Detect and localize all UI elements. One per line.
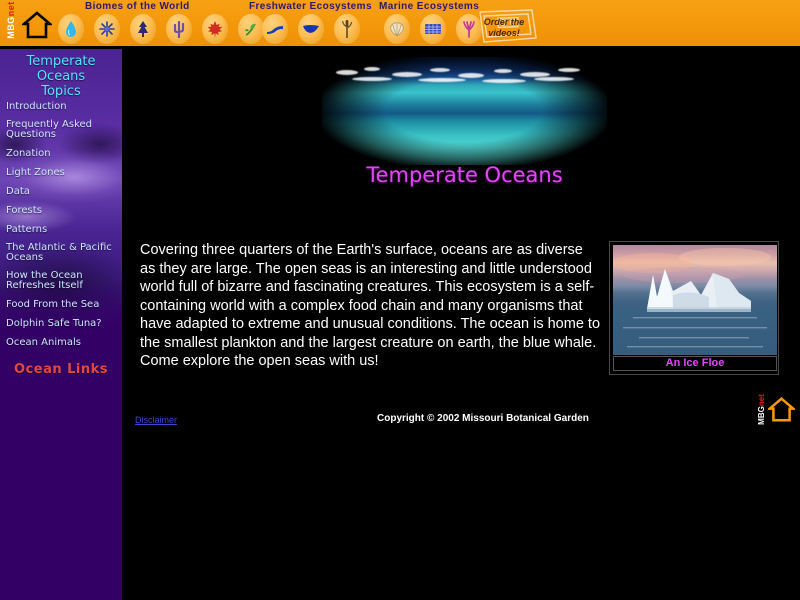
nav-icon-river[interactable] — [262, 14, 288, 44]
nav-icon-cactus[interactable] — [166, 14, 192, 44]
nav-icon-coral-reef[interactable] — [420, 14, 446, 44]
mbgnet-wordmark-primary: MBG — [6, 16, 16, 39]
sidebar-item-zonation[interactable]: Zonation — [0, 148, 122, 159]
copyright-text: Copyright © 2002 Missouri Botanical Gard… — [377, 413, 589, 424]
sidebar-item-forests[interactable]: Forests — [0, 205, 122, 216]
figure-caption: An Ice Floe — [613, 356, 777, 371]
coral-reef-icon — [424, 22, 442, 36]
mbgnet-home-logo[interactable]: MBGnet — [2, 4, 54, 44]
maple-leaf-icon — [207, 21, 223, 38]
nav-icon-shell[interactable] — [384, 14, 410, 44]
sidebar-heading-line-3: Topics — [0, 84, 122, 99]
top-navigation-bar: MBGnet Biomes of the World Freshwater Ec… — [0, 0, 800, 46]
nav-group-label-biomes: Biomes of the World — [85, 1, 190, 12]
nav-icon-conifer-tree[interactable] — [130, 14, 156, 44]
home-icon[interactable] — [768, 396, 795, 428]
water-drop-icon — [65, 21, 77, 38]
order-videos-line1: Order the — [484, 17, 525, 27]
sidebar-item-atlantic-pacific-oceans[interactable]: The Atlantic & Pacific Oceans — [0, 243, 122, 263]
conifer-tree-icon — [136, 20, 150, 38]
nav-icon-snowflake[interactable] — [94, 14, 120, 44]
home-icon[interactable] — [22, 10, 52, 45]
sprout-icon — [243, 21, 259, 37]
page-title: Temperate Oceans — [322, 163, 607, 187]
nav-icon-maple-leaf[interactable] — [202, 14, 228, 44]
river-icon — [266, 23, 284, 35]
page-root: MBGnet Biomes of the World Freshwater Ec… — [0, 0, 800, 600]
main-content: Temperate Oceans Covering three quarters… — [122, 49, 800, 600]
hero-image — [322, 57, 607, 165]
nav-icon-pond[interactable] — [298, 14, 324, 44]
sidebar-item-ocean-links[interactable]: Ocean Links — [0, 362, 122, 377]
nav-group-label-freshwater: Freshwater Ecosystems — [249, 1, 372, 12]
mbgnet-footer-wordmark: MBGnet — [757, 394, 766, 425]
body-paragraph: Covering three quarters of the Earth's s… — [140, 241, 602, 371]
disclaimer-link[interactable]: Disclaimer — [135, 415, 177, 425]
pond-icon — [302, 23, 320, 35]
cactus-icon — [172, 20, 186, 38]
figure-ice-floe: An Ice Floe — [609, 241, 779, 375]
sidebar-item-frequently-asked-questions[interactable]: Frequently Asked Questions — [0, 120, 122, 140]
sidebar-item-patterns[interactable]: Patterns — [0, 224, 122, 235]
sidebar-heading: Temperate Oceans Topics — [0, 54, 122, 99]
mbgnet-footer-primary: MBG — [757, 406, 766, 425]
nav-icon-water-drop[interactable] — [58, 14, 84, 44]
mbgnet-wordmark: MBGnet — [6, 1, 16, 39]
sidebar-item-introduction[interactable]: Introduction — [0, 101, 122, 112]
sidebar-heading-line-1: Temperate — [0, 54, 122, 69]
order-videos-button[interactable]: Order the videos! — [470, 8, 542, 44]
sidebar-item-data[interactable]: Data — [0, 186, 122, 197]
cattail-icon — [341, 19, 353, 39]
sidebar-item-light-zones[interactable]: Light Zones — [0, 167, 122, 178]
sidebar-heading-line-2: Oceans — [0, 69, 122, 84]
shell-icon — [389, 22, 405, 37]
nav-icon-cattail[interactable] — [334, 14, 360, 44]
mbgnet-footer-secondary: net — [757, 394, 766, 406]
sidebar-topic-list: Introduction Frequently Asked Questions … — [0, 101, 122, 377]
sidebar: Temperate Oceans Topics Introduction Fre… — [0, 49, 122, 600]
mbgnet-wordmark-secondary: net — [6, 1, 16, 16]
mbgnet-footer-logo[interactable]: MBGnet — [752, 392, 796, 426]
sidebar-item-food-from-the-sea[interactable]: Food From the Sea — [0, 299, 122, 310]
nav-icon-sprout[interactable] — [238, 14, 264, 44]
order-videos-line2: videos! — [488, 28, 520, 38]
sidebar-item-how-the-ocean-refreshes-itself[interactable]: How the Ocean Refreshes Itself — [0, 271, 122, 291]
sidebar-item-dolphin-safe-tuna[interactable]: Dolphin Safe Tuna? — [0, 318, 122, 329]
nav-group-label-marine: Marine Ecosystems — [379, 1, 479, 12]
snowflake-icon — [99, 21, 115, 37]
sidebar-item-ocean-animals[interactable]: Ocean Animals — [0, 337, 122, 348]
order-videos-label: Order the videos! — [475, 17, 533, 39]
iceberg-photo — [613, 245, 777, 355]
